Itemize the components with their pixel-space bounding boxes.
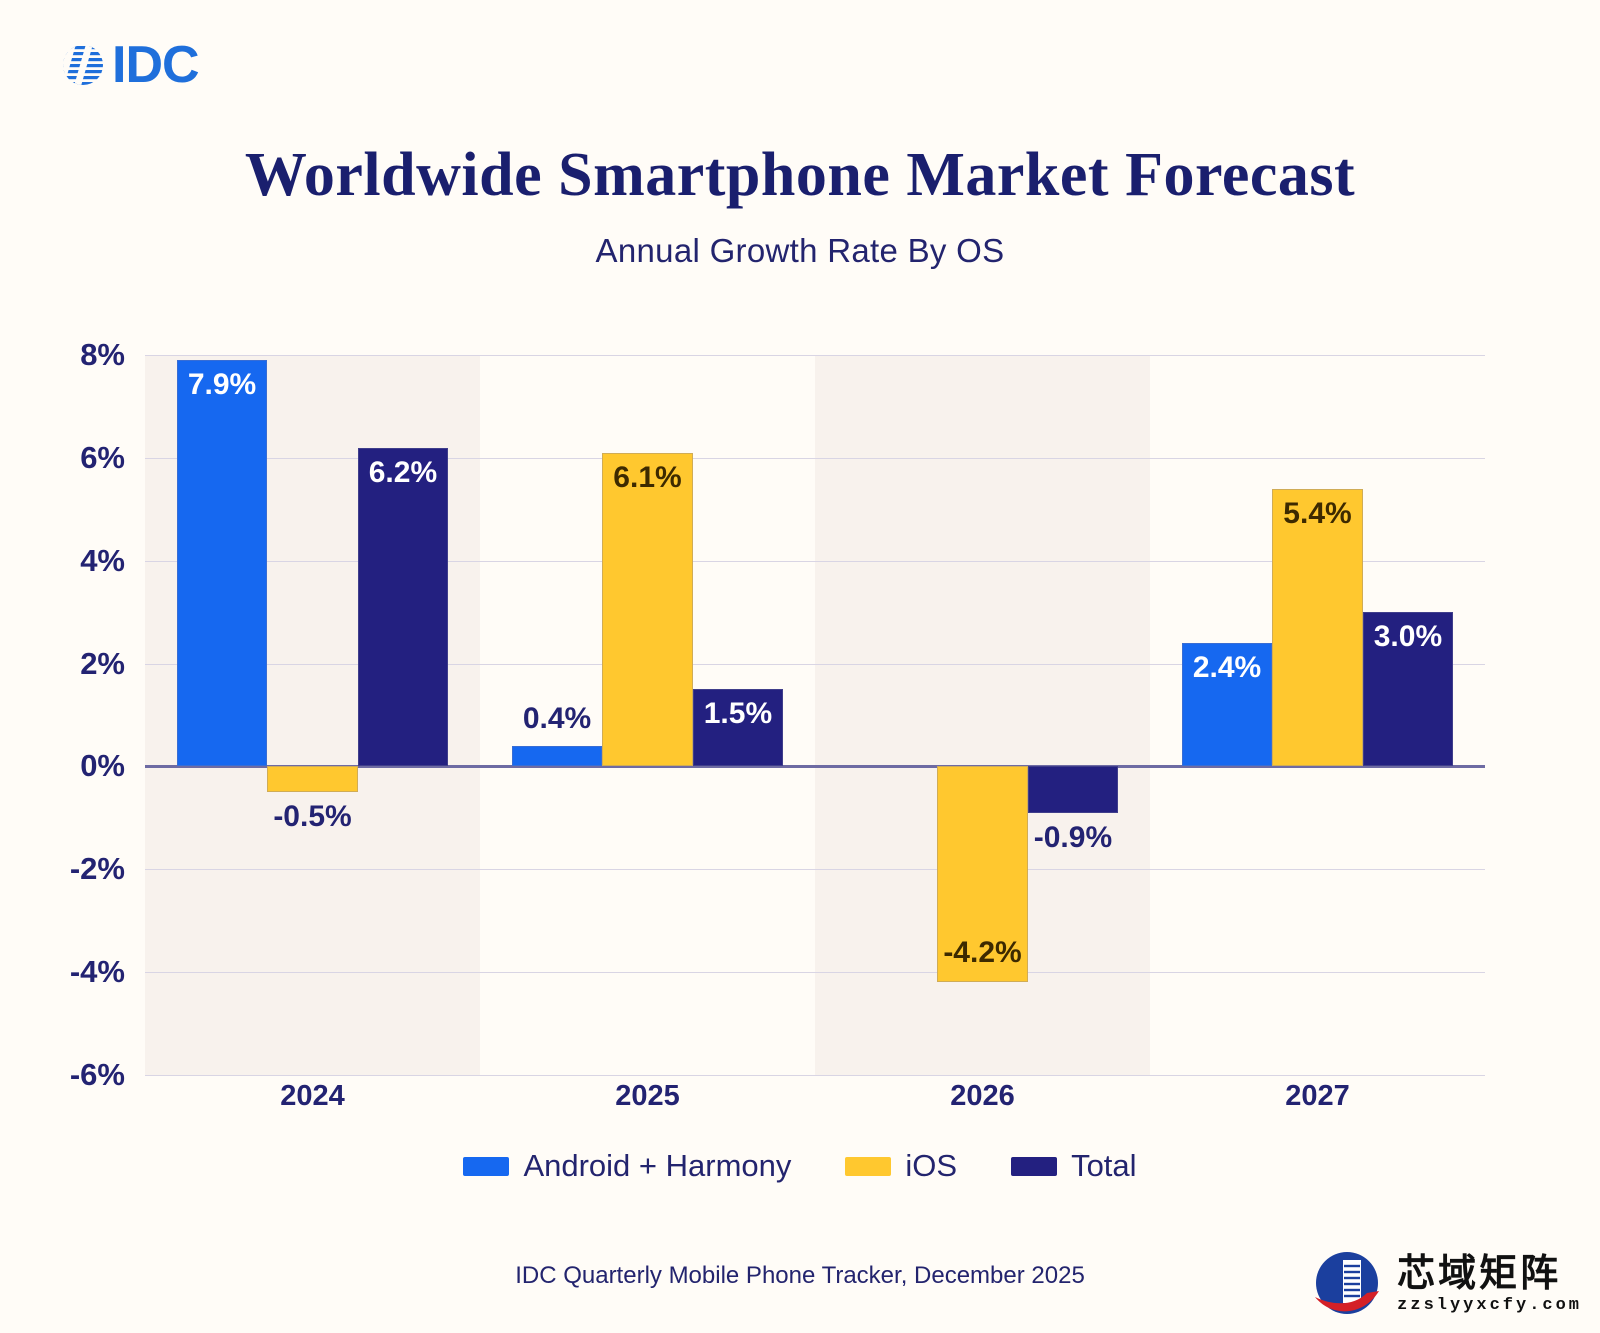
idc-logo-text: IDC xyxy=(112,42,199,88)
bar xyxy=(267,766,357,792)
bar-value-label: -0.9% xyxy=(1013,821,1133,855)
legend-swatch xyxy=(1011,1157,1057,1176)
bar-value-label: -4.2% xyxy=(923,936,1043,970)
x-axis-tick-label: 2026 xyxy=(950,1080,1015,1113)
legend-label: Android + Harmony xyxy=(523,1148,791,1184)
bar-value-label: 6.1% xyxy=(588,461,708,495)
bar-value-label: 7.9% xyxy=(162,368,282,402)
bar-value-label: 0.4% xyxy=(497,702,617,736)
y-axis-tick-label: -4% xyxy=(15,954,125,990)
bar-value-label: 5.4% xyxy=(1258,497,1378,531)
legend-item[interactable]: iOS xyxy=(845,1148,957,1184)
watermark: 芯域矩阵 zzslyyxcfy.com xyxy=(1309,1247,1582,1323)
watermark-name: 芯域矩阵 xyxy=(1397,1255,1582,1295)
y-axis-tick-label: 6% xyxy=(15,440,125,476)
bar xyxy=(358,448,448,767)
legend-item[interactable]: Total xyxy=(1011,1148,1136,1184)
bar-value-label: 1.5% xyxy=(678,697,798,731)
y-axis-tick-label: 8% xyxy=(15,337,125,373)
chart-legend: Android + HarmonyiOSTotal xyxy=(0,1148,1600,1184)
y-axis-tick-label: 4% xyxy=(15,543,125,579)
bar-value-label: 3.0% xyxy=(1348,620,1468,654)
bar-value-label: -0.5% xyxy=(253,800,373,834)
legend-swatch xyxy=(463,1157,509,1176)
gridline xyxy=(145,355,1485,356)
x-axis-tick-label: 2025 xyxy=(615,1080,680,1113)
bar-chart: 8%6%4%2%0%-2%-4%-6%7.9%0.4%2.4%-0.5%6.1%… xyxy=(145,355,1485,1075)
globe-icon xyxy=(60,42,106,88)
bar xyxy=(512,746,602,767)
bar-value-label: 2.4% xyxy=(1167,651,1287,685)
y-axis-tick-label: 0% xyxy=(15,748,125,784)
page-subtitle: Annual Growth Rate By OS xyxy=(0,232,1600,270)
gridline xyxy=(145,869,1485,870)
page-title: Worldwide Smartphone Market Forecast xyxy=(0,140,1600,211)
y-axis-tick-label: -6% xyxy=(15,1057,125,1093)
watermark-logo-icon xyxy=(1309,1247,1385,1323)
gridline xyxy=(145,1075,1485,1076)
legend-item[interactable]: Android + Harmony xyxy=(463,1148,791,1184)
legend-label: iOS xyxy=(905,1148,957,1184)
x-axis-tick-label: 2027 xyxy=(1285,1080,1350,1113)
y-axis-tick-label: -2% xyxy=(15,851,125,887)
idc-logo: IDC xyxy=(60,42,199,88)
bar-value-label: 6.2% xyxy=(343,456,463,490)
bar xyxy=(1028,766,1118,812)
bar xyxy=(177,360,267,766)
legend-swatch xyxy=(845,1157,891,1176)
watermark-url: zzslyyxcfy.com xyxy=(1397,1296,1582,1315)
x-axis-tick-label: 2024 xyxy=(280,1080,345,1113)
legend-label: Total xyxy=(1071,1148,1136,1184)
y-axis-tick-label: 2% xyxy=(15,646,125,682)
gridline xyxy=(145,972,1485,973)
